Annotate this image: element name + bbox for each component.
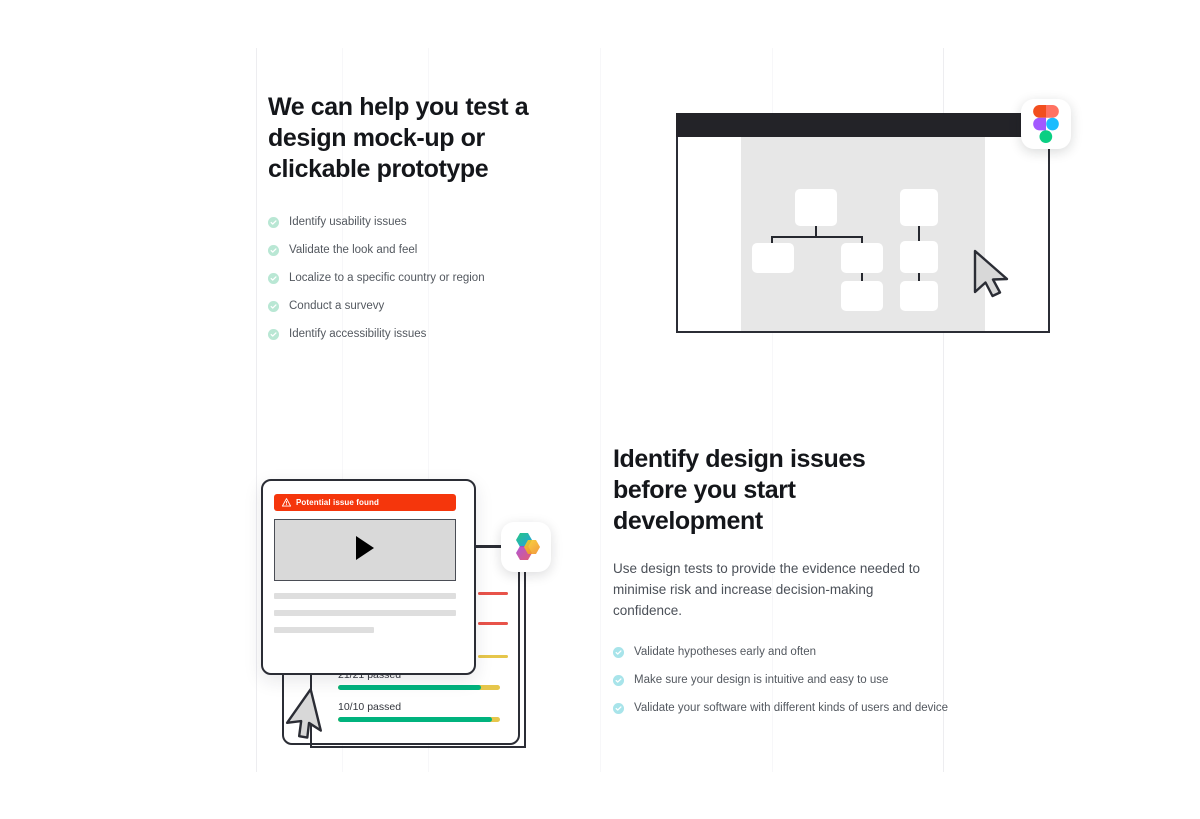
status-badge: Potential issue found — [274, 494, 456, 511]
wireframe-node — [795, 189, 837, 226]
page-title: We can help you test a design mock-up or… — [268, 92, 593, 185]
issue-tick-marker — [478, 622, 508, 625]
list-item: Validate your software with different ki… — [613, 701, 953, 715]
video-thumbnail[interactable] — [274, 519, 456, 581]
check-circle-icon — [268, 273, 279, 284]
layout-guide-line — [600, 48, 601, 772]
wireframe-connector — [771, 236, 863, 238]
check-circle-icon — [613, 675, 624, 686]
connector-wire — [524, 570, 526, 748]
issue-preview-card: Potential issue found — [261, 479, 476, 675]
list-item: Make sure your design is intuitive and e… — [613, 673, 953, 687]
warning-triangle-icon — [282, 494, 291, 512]
page-title: Identify design issues before you start … — [613, 444, 933, 537]
check-circle-icon — [268, 245, 279, 256]
progress-bar — [338, 685, 500, 690]
list-item: Localize to a specific country or region — [268, 271, 598, 285]
mouse-pointer-icon — [971, 248, 1017, 300]
check-circle-icon — [268, 301, 279, 312]
placeholder-text-line — [274, 610, 456, 616]
check-circle-icon — [613, 703, 624, 714]
issue-tick-marker — [478, 655, 508, 658]
connector-wire — [310, 746, 526, 748]
issue-tick-marker — [478, 592, 508, 595]
check-circle-icon — [268, 329, 279, 340]
mockup-left-panel — [678, 137, 741, 331]
status-badge-label: Potential issue found — [296, 498, 379, 507]
wireframe-connector — [918, 226, 920, 241]
list-item-label: Validate your software with different ki… — [634, 701, 948, 715]
progress-bar — [338, 717, 500, 722]
layout-guide-line — [256, 48, 257, 772]
list-item: Validate hypotheses early and often — [613, 645, 953, 659]
wireframe-node — [752, 243, 794, 273]
hexagon-logo-icon — [501, 522, 551, 572]
result-label: 10/10 passed — [338, 701, 500, 713]
list-item-label: Identify usability issues — [289, 215, 407, 229]
section-description: Use design tests to provide the evidence… — [613, 558, 931, 621]
list-item-label: Validate hypotheses early and often — [634, 645, 816, 659]
wireframe-node — [841, 281, 883, 311]
play-button-icon[interactable] — [354, 535, 376, 566]
placeholder-text-line — [274, 627, 374, 633]
list-item: Conduct a survevy — [268, 299, 598, 313]
wireframe-node — [841, 243, 883, 273]
wireframe-node — [900, 189, 938, 226]
list-item-label: Validate the look and feel — [289, 243, 417, 257]
check-circle-icon — [268, 217, 279, 228]
list-item: Identify accessibility issues — [268, 327, 598, 341]
progress-fill — [338, 685, 481, 690]
list-item-label: Conduct a survevy — [289, 299, 384, 313]
section-design-test: We can help you test a design mock-up or… — [268, 92, 598, 355]
list-item-label: Identify accessibility issues — [289, 327, 426, 341]
mockup-titlebar — [676, 113, 1050, 137]
page-root: We can help you test a design mock-up or… — [0, 0, 1200, 819]
section-identify-issues: Identify design issues before you start … — [613, 444, 953, 729]
list-item-label: Make sure your design is intuitive and e… — [634, 673, 888, 687]
figma-logo-icon — [1021, 99, 1071, 149]
placeholder-text-line — [274, 593, 456, 599]
feature-list-identify-issues: Validate hypotheses early and often Make… — [613, 645, 953, 715]
mockup-right-panel — [985, 137, 1048, 331]
mockup-canvas — [741, 137, 985, 331]
list-item-label: Localize to a specific country or region — [289, 271, 485, 285]
list-item: Identify usability issues — [268, 215, 598, 229]
wireframe-node — [900, 281, 938, 311]
wireframe-node — [900, 241, 938, 273]
result-row: 10/10 passed — [338, 701, 500, 722]
list-item: Validate the look and feel — [268, 243, 598, 257]
progress-fill — [338, 717, 492, 722]
feature-list-design-test: Identify usability issues Validate the l… — [268, 215, 598, 341]
check-circle-icon — [613, 647, 624, 658]
